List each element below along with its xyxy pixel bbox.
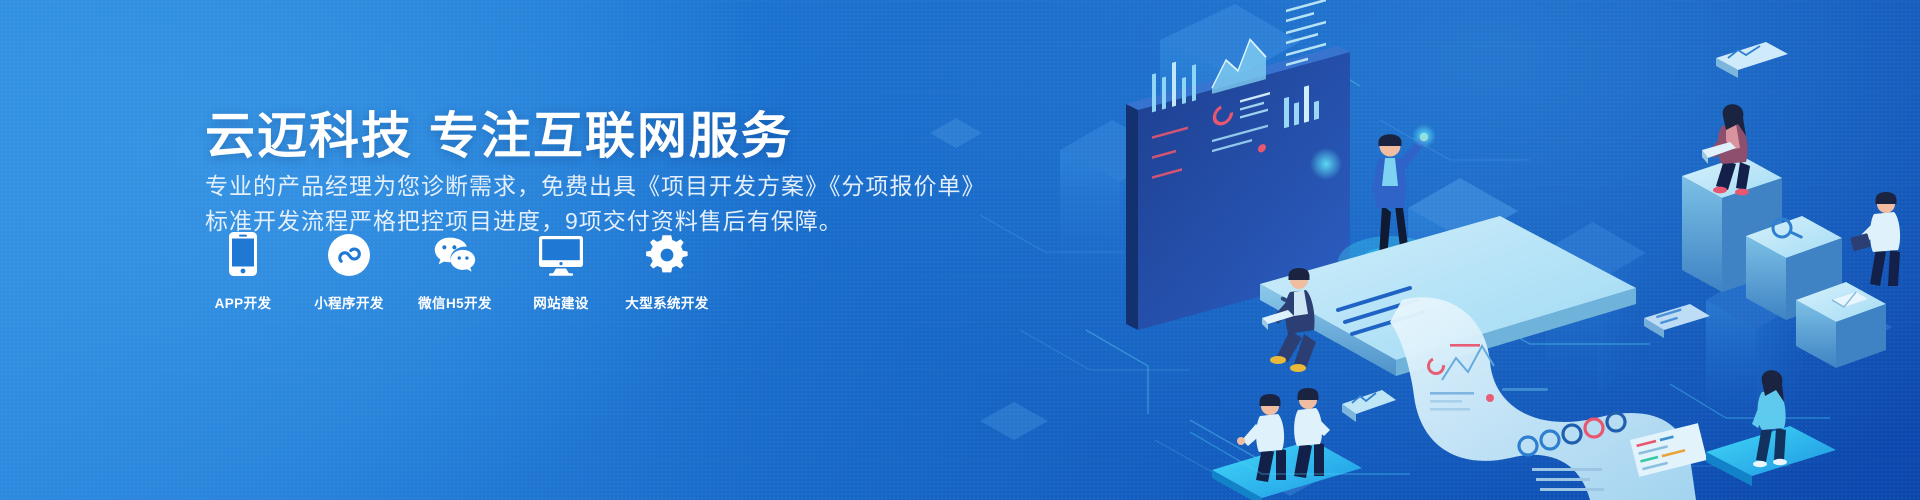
person-sitting-laptop	[1262, 268, 1316, 372]
dashboard-screen	[1126, 0, 1350, 330]
box-with-search-icon	[1746, 214, 1842, 320]
mobile-phone-icon	[221, 232, 265, 276]
hero-banner: 云迈科技 专注互联网服务 专业的产品经理为您诊断需求，免费出具《项目开发方案》《…	[0, 0, 1920, 500]
wechat-icon	[433, 232, 477, 276]
gear-icon	[645, 232, 689, 276]
floating-accent-cards	[1644, 304, 1710, 338]
service-item-app[interactable]: APP开发	[205, 232, 281, 312]
service-label: 大型系统开发	[625, 292, 708, 312]
person-pair-on-pad	[1212, 388, 1362, 500]
floating-chart-card-left	[1342, 390, 1396, 422]
service-item-large-system[interactable]: 大型系统开发	[629, 232, 705, 312]
service-label: APP开发	[215, 292, 272, 312]
data-ribbon	[1390, 297, 1707, 500]
service-item-miniprogram[interactable]: 小程序开发	[311, 232, 387, 312]
person-woman-laptop-pedestal	[1682, 42, 1788, 292]
service-list: APP开发 小程序开发	[205, 232, 705, 312]
isometric-illustration	[890, 0, 1920, 500]
service-label: 微信H5开发	[418, 292, 492, 312]
service-label: 小程序开发	[314, 292, 384, 312]
page-title: 云迈科技 专注互联网服务	[205, 106, 793, 166]
monitor-icon	[539, 232, 583, 276]
person-standing-pointing	[1338, 124, 1442, 288]
tablet-slab	[1260, 216, 1636, 376]
service-item-website[interactable]: 网站建设	[523, 232, 599, 312]
person-woman-on-pad	[1706, 370, 1836, 486]
person-man-briefcase-box	[1796, 192, 1900, 368]
subtitle-line-1: 专业的产品经理为您诊断需求，免费出具《项目开发方案》《分项报价单》	[205, 169, 986, 205]
banner-content: 云迈科技 专注互联网服务 专业的产品经理为您诊断需求，免费出具《项目开发方案》《…	[205, 0, 925, 500]
service-item-wechat-h5[interactable]: 微信H5开发	[417, 232, 493, 312]
mini-program-icon	[327, 232, 371, 276]
service-label: 网站建设	[533, 292, 589, 312]
